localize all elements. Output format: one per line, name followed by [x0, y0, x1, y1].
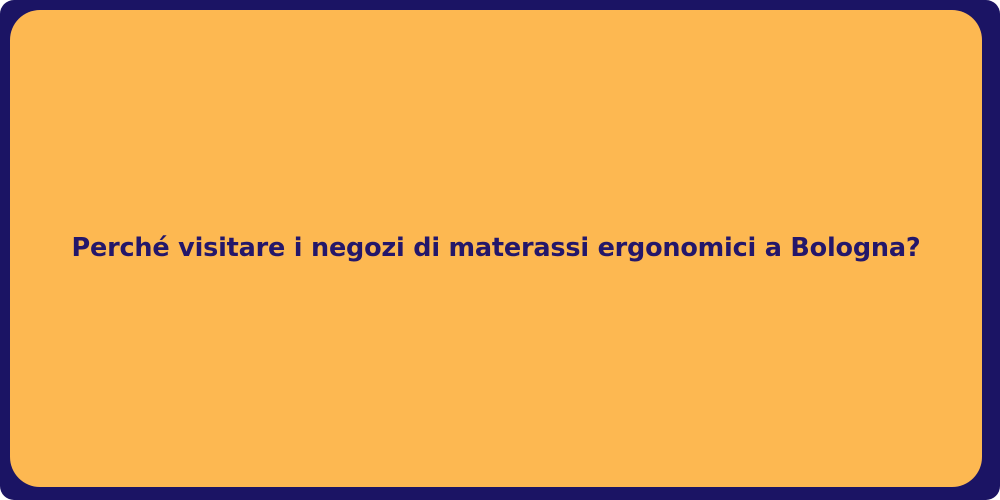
card-panel: Perché visitare i negozi di materassi er…	[10, 10, 982, 487]
card-frame: Perché visitare i negozi di materassi er…	[0, 0, 1000, 500]
page-title: Perché visitare i negozi di materassi er…	[10, 233, 982, 265]
